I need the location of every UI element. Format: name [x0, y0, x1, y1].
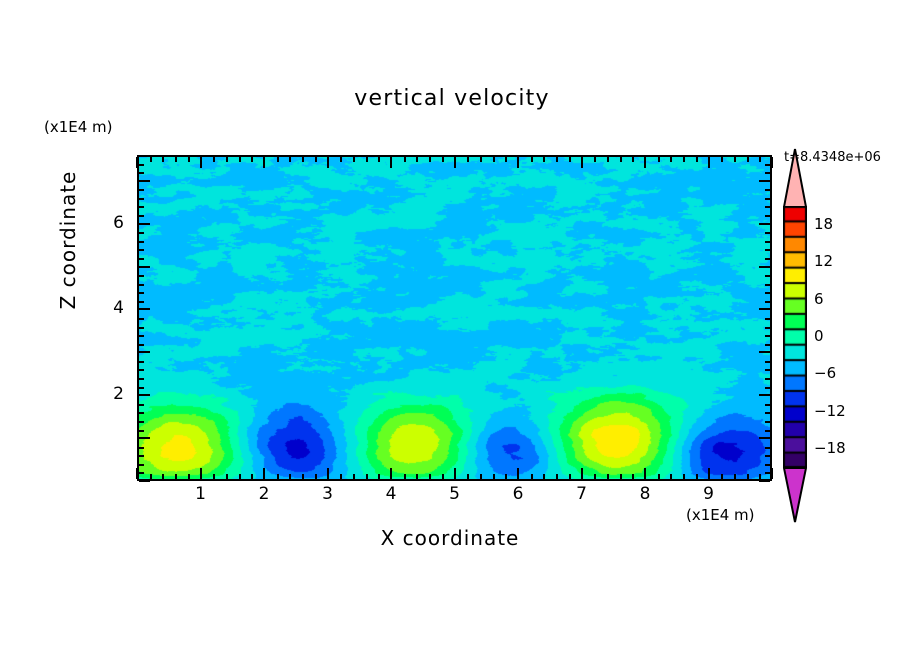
y-minor-tick-right	[765, 387, 770, 389]
y-major-tick-right	[759, 308, 770, 310]
y-minor-tick-right	[765, 404, 770, 406]
x-minor-tick	[683, 474, 685, 479]
x-minor-tick-top	[493, 157, 495, 162]
x-major-tick-top	[200, 157, 202, 168]
x-tick-label: 5	[435, 484, 475, 504]
x-minor-tick	[353, 474, 355, 479]
y-minor-tick	[139, 206, 144, 208]
y-major-tick	[139, 308, 150, 310]
x-minor-tick-top	[175, 157, 177, 162]
y-major-tick-right	[759, 480, 770, 482]
colorbar-tick-label: −12	[814, 402, 846, 420]
y-minor-tick-right	[765, 369, 770, 371]
y-minor-tick-right	[765, 215, 770, 217]
y-major-tick	[139, 180, 150, 182]
colorbar-tick-label: 12	[814, 252, 833, 270]
x-major-tick	[200, 468, 202, 479]
y-minor-tick	[139, 344, 144, 346]
x-major-tick-top	[644, 157, 646, 168]
y-axis-unit-label: (x1E4 m)	[44, 118, 113, 136]
y-minor-tick	[139, 412, 144, 414]
x-major-tick	[390, 468, 392, 479]
colorbar-tick-label: 18	[814, 215, 833, 233]
y-minor-tick	[139, 258, 144, 260]
y-minor-tick-right	[765, 335, 770, 337]
colorbar-over-arrow	[783, 148, 807, 207]
x-tick-label: 9	[689, 484, 729, 504]
y-major-tick-right	[759, 223, 770, 225]
y-major-tick-right	[759, 394, 770, 396]
y-minor-tick-right	[765, 206, 770, 208]
x-major-tick-top	[708, 157, 710, 168]
x-minor-tick	[429, 474, 431, 479]
y-major-tick-right	[759, 437, 770, 439]
x-minor-tick	[480, 474, 482, 479]
x-minor-tick	[213, 474, 215, 479]
x-major-tick-top	[390, 157, 392, 168]
colorbar-tick-label: 6	[814, 290, 824, 308]
colorbar-under-arrow	[783, 468, 807, 523]
x-minor-tick-top	[315, 157, 317, 162]
y-minor-tick-right	[765, 464, 770, 466]
x-tick-label: 2	[244, 484, 284, 504]
y-minor-tick	[139, 241, 144, 243]
y-major-tick-right	[759, 180, 770, 182]
y-major-tick	[139, 480, 150, 482]
y-minor-tick	[139, 387, 144, 389]
y-tick-label: 2	[96, 384, 124, 404]
x-minor-tick-top	[239, 157, 241, 162]
x-minor-tick-top	[416, 157, 418, 162]
y-minor-tick-right	[765, 258, 770, 260]
y-minor-tick-right	[765, 275, 770, 277]
x-minor-tick	[315, 474, 317, 479]
y-minor-tick	[139, 292, 144, 294]
page-title: vertical velocity	[0, 86, 904, 111]
x-major-tick	[771, 468, 773, 479]
x-minor-tick-top	[226, 157, 228, 162]
x-minor-tick-top	[607, 157, 609, 162]
y-minor-tick-right	[765, 318, 770, 320]
y-minor-tick	[139, 275, 144, 277]
y-major-tick	[139, 223, 150, 225]
y-minor-tick-right	[765, 198, 770, 200]
x-minor-tick	[277, 474, 279, 479]
x-minor-tick-top	[683, 157, 685, 162]
x-minor-tick-top	[188, 157, 190, 162]
x-major-tick-top	[581, 157, 583, 168]
x-minor-tick-top	[162, 157, 164, 162]
x-minor-tick	[734, 474, 736, 479]
x-minor-tick	[569, 474, 571, 479]
x-tick-label: 7	[562, 484, 602, 504]
x-minor-tick	[747, 474, 749, 479]
x-minor-tick	[162, 474, 164, 479]
y-minor-tick	[139, 464, 144, 466]
y-minor-tick-right	[765, 430, 770, 432]
x-axis-unit-label: (x1E4 m)	[686, 506, 755, 524]
x-minor-tick-top	[480, 157, 482, 162]
x-minor-tick	[251, 474, 253, 479]
x-minor-tick	[556, 474, 558, 479]
y-minor-tick	[139, 198, 144, 200]
x-minor-tick-top	[620, 157, 622, 162]
x-minor-tick-top	[150, 157, 152, 162]
contour-plot-area	[137, 155, 772, 481]
x-major-tick-top	[263, 157, 265, 168]
x-minor-tick	[188, 474, 190, 479]
y-minor-tick	[139, 164, 144, 166]
x-tick-label: 1	[181, 484, 221, 504]
y-axis-title: Z coordinate	[56, 150, 80, 330]
x-minor-tick-top	[277, 157, 279, 162]
y-major-tick	[139, 394, 150, 396]
y-minor-tick	[139, 301, 144, 303]
y-minor-tick-right	[765, 232, 770, 234]
x-major-tick	[581, 468, 583, 479]
x-major-tick	[263, 468, 265, 479]
y-minor-tick	[139, 421, 144, 423]
x-major-tick	[708, 468, 710, 479]
y-minor-tick	[139, 430, 144, 432]
x-minor-tick	[404, 474, 406, 479]
x-minor-tick	[594, 474, 596, 479]
x-major-tick-top	[454, 157, 456, 168]
x-minor-tick-top	[289, 157, 291, 162]
y-minor-tick-right	[765, 447, 770, 449]
x-major-tick-top	[771, 157, 773, 168]
y-minor-tick	[139, 472, 144, 474]
vertical-velocity-contour-field	[137, 155, 772, 481]
x-minor-tick	[378, 474, 380, 479]
y-minor-tick	[139, 335, 144, 337]
y-minor-tick	[139, 361, 144, 363]
x-tick-label: 6	[498, 484, 538, 504]
y-major-tick-right	[759, 351, 770, 353]
y-major-tick	[139, 266, 150, 268]
x-minor-tick	[416, 474, 418, 479]
y-minor-tick-right	[765, 472, 770, 474]
y-minor-tick-right	[765, 172, 770, 174]
x-major-tick-top	[136, 157, 138, 168]
x-major-tick	[644, 468, 646, 479]
x-minor-tick	[493, 474, 495, 479]
x-minor-tick	[505, 474, 507, 479]
y-major-tick	[139, 437, 150, 439]
x-minor-tick-top	[747, 157, 749, 162]
y-minor-tick	[139, 378, 144, 380]
x-minor-tick	[721, 474, 723, 479]
x-minor-tick-top	[505, 157, 507, 162]
y-minor-tick-right	[765, 292, 770, 294]
x-minor-tick	[658, 474, 660, 479]
x-major-tick	[517, 468, 519, 479]
x-minor-tick-top	[429, 157, 431, 162]
x-minor-tick-top	[658, 157, 660, 162]
x-minor-tick	[531, 474, 533, 479]
x-minor-tick-top	[366, 157, 368, 162]
x-minor-tick-top	[404, 157, 406, 162]
y-minor-tick-right	[765, 378, 770, 380]
x-minor-tick	[366, 474, 368, 479]
x-axis-title: X coordinate	[280, 526, 620, 550]
x-minor-tick-top	[213, 157, 215, 162]
x-minor-tick-top	[556, 157, 558, 162]
x-major-tick-top	[517, 157, 519, 168]
x-major-tick	[327, 468, 329, 479]
y-minor-tick	[139, 318, 144, 320]
colorbar-tick-label: −18	[814, 439, 846, 457]
y-minor-tick-right	[765, 164, 770, 166]
x-tick-label: 3	[308, 484, 348, 504]
x-minor-tick-top	[594, 157, 596, 162]
x-minor-tick-top	[531, 157, 533, 162]
colorbar-tick-label: 0	[814, 327, 824, 345]
y-minor-tick	[139, 232, 144, 234]
x-minor-tick-top	[670, 157, 672, 162]
x-minor-tick	[620, 474, 622, 479]
y-minor-tick-right	[765, 344, 770, 346]
x-minor-tick-top	[696, 157, 698, 162]
x-minor-tick	[442, 474, 444, 479]
x-minor-tick-top	[721, 157, 723, 162]
x-minor-tick-top	[759, 157, 761, 162]
x-major-tick	[136, 468, 138, 479]
y-minor-tick	[139, 249, 144, 251]
y-minor-tick	[139, 155, 144, 157]
colorbar-tick-label: −6	[814, 364, 836, 382]
y-major-tick	[139, 351, 150, 353]
x-minor-tick-top	[302, 157, 304, 162]
x-minor-tick	[632, 474, 634, 479]
y-minor-tick	[139, 369, 144, 371]
y-minor-tick-right	[765, 412, 770, 414]
x-minor-tick	[302, 474, 304, 479]
y-minor-tick-right	[765, 249, 770, 251]
x-minor-tick-top	[569, 157, 571, 162]
x-minor-tick	[696, 474, 698, 479]
y-minor-tick	[139, 215, 144, 217]
y-minor-tick	[139, 404, 144, 406]
x-tick-label: 8	[625, 484, 665, 504]
x-minor-tick-top	[340, 157, 342, 162]
x-minor-tick-top	[251, 157, 253, 162]
x-minor-tick	[759, 474, 761, 479]
x-minor-tick	[175, 474, 177, 479]
x-minor-tick-top	[543, 157, 545, 162]
x-minor-tick	[289, 474, 291, 479]
x-minor-tick	[670, 474, 672, 479]
y-minor-tick	[139, 447, 144, 449]
x-minor-tick	[340, 474, 342, 479]
x-minor-tick-top	[378, 157, 380, 162]
y-minor-tick	[139, 284, 144, 286]
y-minor-tick-right	[765, 241, 770, 243]
x-tick-label: 4	[371, 484, 411, 504]
y-minor-tick	[139, 189, 144, 191]
x-major-tick-top	[327, 157, 329, 168]
y-minor-tick-right	[765, 421, 770, 423]
x-minor-tick	[543, 474, 545, 479]
x-major-tick	[454, 468, 456, 479]
y-minor-tick	[139, 327, 144, 329]
y-minor-tick-right	[765, 284, 770, 286]
x-minor-tick	[607, 474, 609, 479]
x-minor-tick	[239, 474, 241, 479]
y-minor-tick	[139, 172, 144, 174]
y-minor-tick-right	[765, 361, 770, 363]
colorbar-gradient	[783, 206, 807, 468]
y-minor-tick	[139, 455, 144, 457]
x-minor-tick-top	[442, 157, 444, 162]
y-minor-tick-right	[765, 455, 770, 457]
x-minor-tick	[226, 474, 228, 479]
x-minor-tick	[467, 474, 469, 479]
colorbar	[783, 206, 807, 468]
y-minor-tick-right	[765, 155, 770, 157]
x-minor-tick-top	[353, 157, 355, 162]
y-tick-label: 6	[96, 213, 124, 233]
y-major-tick-right	[759, 266, 770, 268]
y-minor-tick-right	[765, 301, 770, 303]
x-minor-tick	[150, 474, 152, 479]
x-minor-tick-top	[467, 157, 469, 162]
x-minor-tick-top	[632, 157, 634, 162]
x-minor-tick-top	[734, 157, 736, 162]
y-tick-label: 4	[96, 298, 124, 318]
y-minor-tick-right	[765, 327, 770, 329]
y-minor-tick-right	[765, 189, 770, 191]
